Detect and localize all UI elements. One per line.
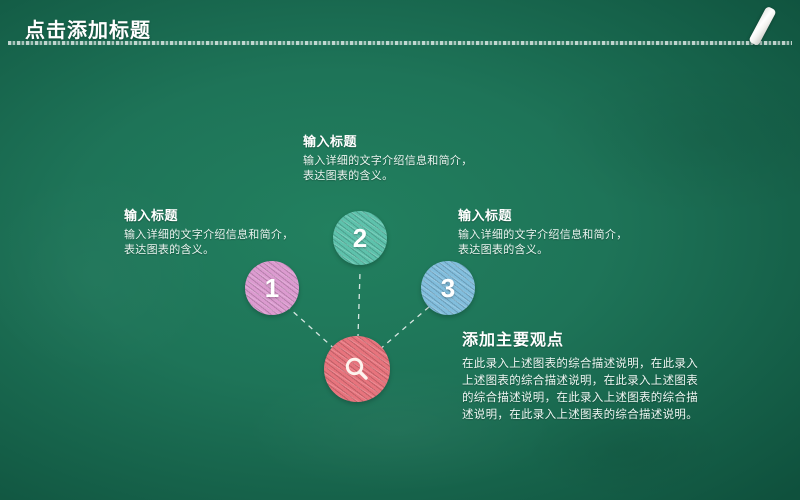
text-block-main-heading: 添加主要观点: [462, 326, 698, 350]
text-block-top-body: 输入详细的文字介绍信息和简介，表达图表的含义。: [303, 154, 473, 184]
slide-canvas: 点击添加标题 1 2 3 输入标题 输入详细的文字介绍信息和简介，表达图表的含义…: [0, 0, 800, 500]
text-block-right-body: 输入详细的文字介绍信息和简介，表达图表的含义。: [458, 228, 633, 258]
node-three[interactable]: 3: [421, 261, 475, 315]
text-block-left: 输入标题 输入详细的文字介绍信息和简介，表达图表的含义。: [124, 205, 294, 258]
chalk-underline-divider: [8, 41, 792, 45]
text-block-top: 输入标题 输入详细的文字介绍信息和简介，表达图表的含义。: [303, 131, 473, 184]
text-block-right: 输入标题 输入详细的文字介绍信息和简介，表达图表的含义。: [458, 205, 633, 258]
node-two-label: 2: [353, 225, 367, 251]
node-one-label: 1: [265, 275, 279, 301]
node-three-label: 3: [441, 275, 455, 301]
text-block-top-heading: 输入标题: [303, 131, 473, 150]
node-two[interactable]: 2: [333, 211, 387, 265]
text-block-left-body: 输入详细的文字介绍信息和简介，表达图表的含义。: [124, 228, 294, 258]
page-title: 点击添加标题: [25, 14, 151, 43]
node-center[interactable]: [324, 336, 390, 402]
text-block-right-heading: 输入标题: [458, 205, 633, 224]
magnifier-icon: [342, 354, 372, 384]
connector-lines: [0, 0, 800, 500]
node-one[interactable]: 1: [245, 261, 299, 315]
text-block-main-body: 在此录入上述图表的综合描述说明，在此录入上述图表的综合描述说明，在此录入上述图表…: [462, 356, 698, 424]
text-block-left-heading: 输入标题: [124, 205, 294, 224]
text-block-main: 添加主要观点 在此录入上述图表的综合描述说明，在此录入上述图表的综合描述说明，在…: [462, 326, 698, 424]
